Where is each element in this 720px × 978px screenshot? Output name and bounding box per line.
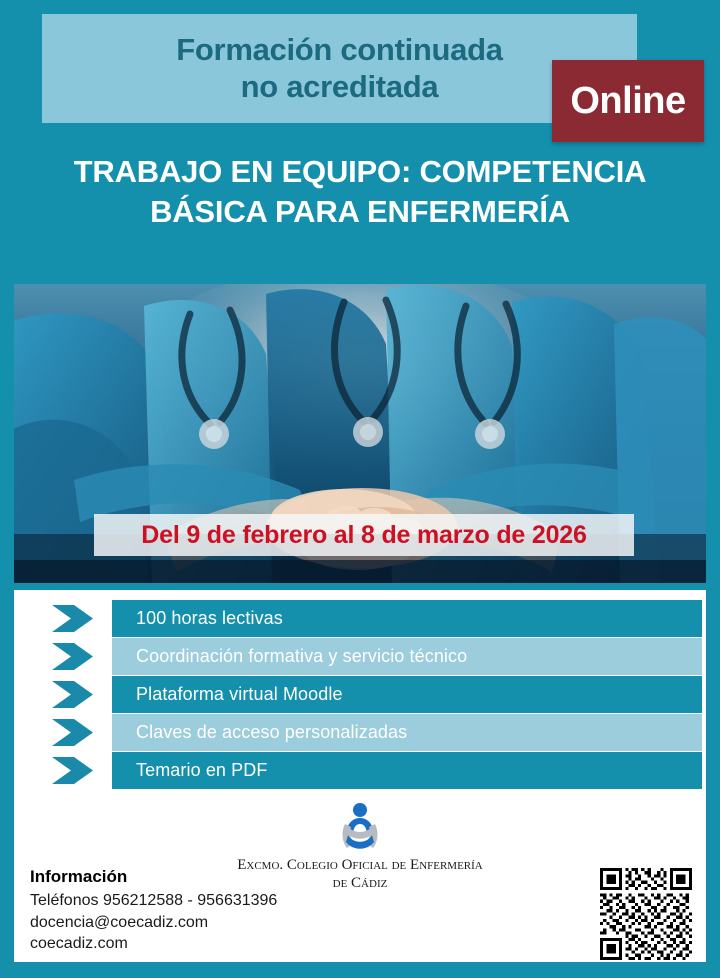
list-item: Temario en PDF xyxy=(14,752,706,789)
online-badge: Online xyxy=(552,60,704,142)
list-item: Plataforma virtual Moodle xyxy=(14,676,706,713)
page-title-line-2: BÁSICA PARA ENFERMERÍA xyxy=(0,192,720,232)
poster-root: Formación continuada no acreditada Onlin… xyxy=(0,0,720,978)
chevron-right-icon xyxy=(50,680,96,709)
kicker-line-2: no acreditada xyxy=(241,70,439,105)
page-title: TRABAJO EN EQUIPO: COMPETENCIA BÁSICA PA… xyxy=(0,152,720,231)
features-list: 100 horas lectivas Coordinación formativ… xyxy=(14,590,706,794)
info-website[interactable]: coecadiz.com xyxy=(30,933,277,955)
list-item: 100 horas lectivas xyxy=(14,600,706,637)
feature-bar: Plataforma virtual Moodle xyxy=(112,676,702,713)
page-title-line-1: TRABAJO EN EQUIPO: COMPETENCIA xyxy=(0,152,720,192)
kicker-box: Formación continuada no acreditada xyxy=(42,14,637,123)
chevron-right-icon xyxy=(50,718,96,747)
list-item: Claves de acceso personalizadas xyxy=(14,714,706,751)
info-phones: Teléfonos 956212588 - 956631396 xyxy=(30,890,277,912)
bottom-accent-bar xyxy=(0,962,720,978)
header-section: Formación continuada no acreditada Onlin… xyxy=(0,0,720,258)
date-banner: Del 9 de febrero al 8 de marzo de 2026 xyxy=(94,514,634,556)
date-banner-label: Del 9 de febrero al 8 de marzo de 2026 xyxy=(141,521,586,550)
feature-label: Coordinación formativa y servicio técnic… xyxy=(136,646,467,667)
footer-section: Excmo. Colegio Oficial de Enfermería de … xyxy=(14,794,706,962)
feature-label: 100 horas lectivas xyxy=(136,608,283,629)
logo-text-line-2: de Cádiz xyxy=(333,874,388,892)
info-heading: Información xyxy=(30,866,277,889)
colegio-enfermeria-emblem-icon xyxy=(334,802,386,852)
chevron-right-icon xyxy=(50,756,96,785)
qr-code-icon[interactable] xyxy=(600,868,692,960)
feature-bar: Coordinación formativa y servicio técnic… xyxy=(112,638,702,675)
list-item: Coordinación formativa y servicio técnic… xyxy=(14,638,706,675)
feature-label: Temario en PDF xyxy=(136,760,267,781)
feature-bar: Claves de acceso personalizadas xyxy=(112,714,702,751)
info-email[interactable]: docencia@coecadiz.com xyxy=(30,912,277,934)
feature-label: Plataforma virtual Moodle xyxy=(136,684,343,705)
feature-label: Claves de acceso personalizadas xyxy=(136,722,407,743)
chevron-right-icon xyxy=(50,642,96,671)
online-badge-label: Online xyxy=(570,82,685,120)
kicker-line-1: Formación continuada xyxy=(176,33,502,68)
feature-bar: Temario en PDF xyxy=(112,752,702,789)
chevron-right-icon xyxy=(50,604,96,633)
feature-bar: 100 horas lectivas xyxy=(112,600,702,637)
contact-information: Información Teléfonos 956212588 - 956631… xyxy=(30,866,277,955)
